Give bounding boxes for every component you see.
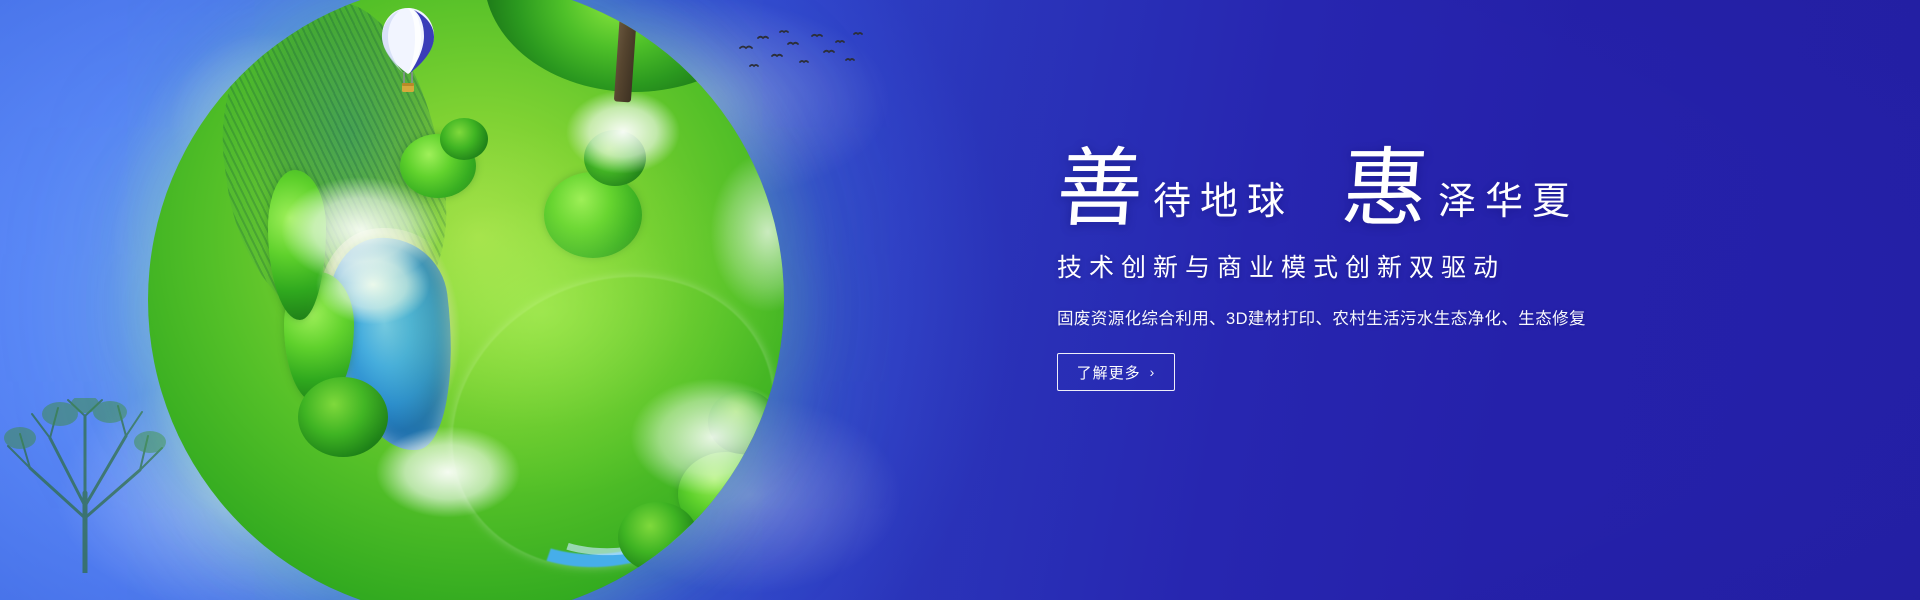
planet-cloud bbox=[618, 362, 784, 512]
large-tree-trunk bbox=[614, 0, 639, 102]
planet-cloud bbox=[256, 160, 466, 300]
tree-canopy bbox=[440, 118, 488, 160]
planet-cloud bbox=[298, 232, 448, 337]
bird-flock-icon bbox=[736, 28, 866, 76]
headline-phrase-2: 惠 泽华夏 bbox=[1342, 151, 1579, 228]
banner-content: 善 待地球 惠 泽华夏 技术创新与商业模式创新双驱动 固废资源化综合利用、3D建… bbox=[1057, 132, 1697, 391]
banner-description: 固废资源化综合利用、3D建材打印、农村生活污水生态净化、生态修复 bbox=[1057, 305, 1697, 329]
tree-canopy bbox=[298, 377, 388, 457]
tree-canopy bbox=[584, 130, 646, 186]
large-tree-canopy bbox=[556, 0, 776, 22]
planet-cloud bbox=[548, 77, 698, 187]
planet-cloud bbox=[688, 132, 784, 332]
tree-canopy bbox=[268, 170, 326, 320]
tree-canopy bbox=[678, 452, 774, 536]
headline-phrase-1: 善 待地球 bbox=[1057, 151, 1294, 228]
headline-rest-1: 待地球 bbox=[1153, 183, 1294, 221]
globe-surface bbox=[148, 0, 784, 600]
river-highlight bbox=[438, 247, 784, 600]
lake bbox=[320, 230, 465, 458]
tree-canopy bbox=[544, 172, 642, 258]
learn-more-button[interactable]: 了解更多 › bbox=[1057, 353, 1175, 391]
chevron-right-icon: › bbox=[1150, 364, 1156, 380]
hero-banner: 善 待地球 惠 泽华夏 技术创新与商业模式创新双驱动 固废资源化综合利用、3D建… bbox=[0, 0, 1920, 600]
tree-canopy bbox=[400, 134, 476, 198]
headline: 善 待地球 惠 泽华夏 bbox=[1057, 132, 1697, 228]
headline-rest-2: 泽华夏 bbox=[1438, 183, 1579, 221]
planet-cloud bbox=[353, 412, 543, 532]
headline-big-char-2: 惠 bbox=[1339, 151, 1430, 228]
lake-shore bbox=[309, 219, 479, 473]
river bbox=[403, 224, 784, 600]
tree-canopy bbox=[708, 390, 778, 454]
hot-air-balloon-icon bbox=[380, 6, 436, 98]
earth-globe bbox=[148, 0, 784, 600]
banner-subtitle: 技术创新与商业模式创新双驱动 bbox=[1057, 248, 1697, 284]
tree-canopy bbox=[284, 272, 354, 402]
learn-more-label: 了解更多 bbox=[1077, 362, 1141, 383]
headline-big-char-1: 善 bbox=[1054, 151, 1145, 228]
tree-canopy bbox=[618, 502, 698, 572]
